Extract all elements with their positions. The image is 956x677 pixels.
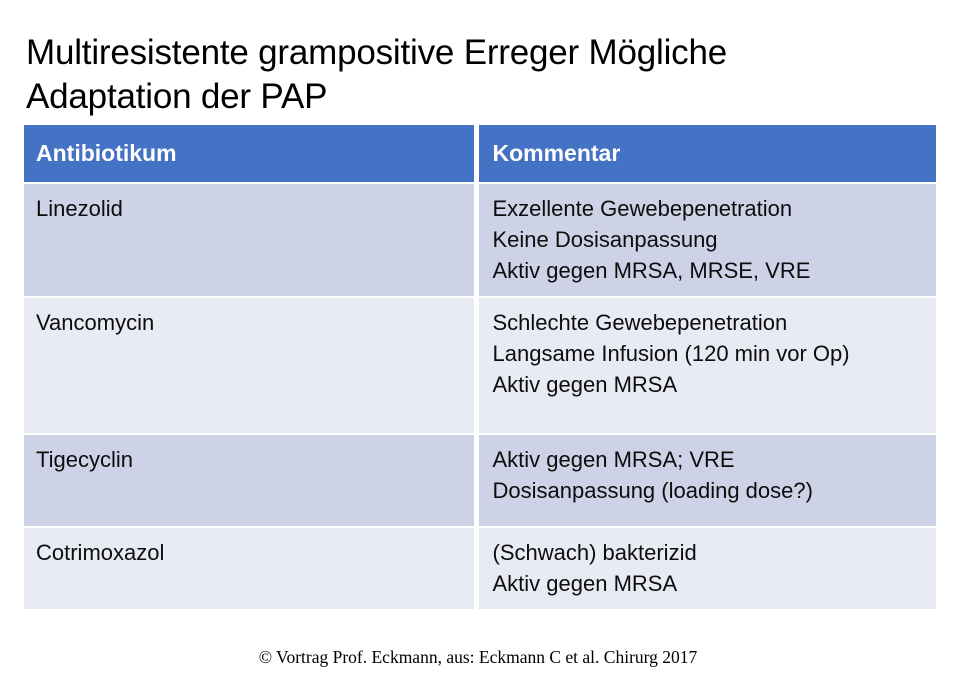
- cell-antibiotikum: Cotrimoxazol: [24, 527, 476, 609]
- table-row: Tigecyclin Aktiv gegen MRSA; VRE Dosisan…: [24, 434, 936, 527]
- slide-canvas: Multiresistente grampositive Erreger Mög…: [0, 0, 956, 677]
- cell-kommentar: Schlechte Gewebepenetration Langsame Inf…: [476, 297, 936, 434]
- cell-kommentar: (Schwach) bakterizid Aktiv gegen MRSA: [476, 527, 936, 609]
- column-header-antibiotikum: Antibiotikum: [24, 125, 476, 183]
- cell-kommentar: Aktiv gegen MRSA; VRE Dosisanpassung (lo…: [476, 434, 936, 527]
- cell-kommentar: Exzellente Gewebepenetration Keine Dosis…: [476, 183, 936, 297]
- table-body: Linezolid Exzellente Gewebepenetration K…: [24, 183, 936, 609]
- table-row: Cotrimoxazol (Schwach) bakterizid Aktiv …: [24, 527, 936, 609]
- cell-antibiotikum: Tigecyclin: [24, 434, 476, 527]
- cell-antibiotikum: Linezolid: [24, 183, 476, 297]
- table-header: Antibiotikum Kommentar: [24, 125, 936, 183]
- pap-table-container: Antibiotikum Kommentar Linezolid Exzelle…: [24, 125, 936, 609]
- column-header-kommentar: Kommentar: [476, 125, 936, 183]
- cell-antibiotikum: Vancomycin: [24, 297, 476, 434]
- table-row: Linezolid Exzellente Gewebepenetration K…: [24, 183, 936, 297]
- pap-table: Antibiotikum Kommentar Linezolid Exzelle…: [24, 125, 936, 609]
- source-citation: © Vortrag Prof. Eckmann, aus: Eckmann C …: [0, 646, 956, 668]
- table-header-row: Antibiotikum Kommentar: [24, 125, 936, 183]
- page-title: Multiresistente grampositive Erreger Mög…: [26, 31, 916, 119]
- table-row: Vancomycin Schlechte Gewebepenetration L…: [24, 297, 936, 434]
